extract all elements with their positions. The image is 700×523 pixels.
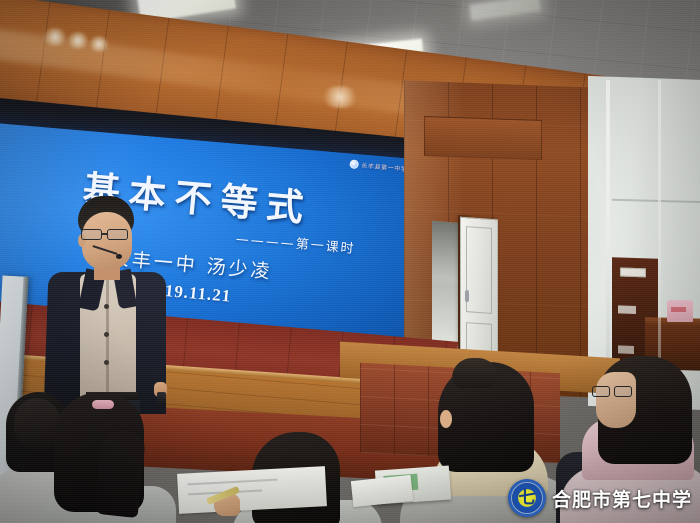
spotlight-reflection [66, 32, 90, 49]
classroom-photo: 长丰县第一中学 基本不等式 ————第一课时 长丰一中 汤少凌 2019.11.… [0, 0, 700, 523]
shirt-button [104, 304, 109, 309]
watermark-text: 合肥市第七中学 [552, 485, 692, 512]
spotlight-reflection [320, 86, 360, 108]
student-2-ponytail [94, 428, 147, 518]
headset-microphone-icon [116, 254, 122, 259]
door-handle[interactable] [465, 290, 469, 302]
pink-box-object [667, 300, 693, 322]
worksheet [177, 466, 327, 514]
school-logo-icon [349, 159, 359, 169]
student-4-ear [440, 410, 452, 428]
shirt-button [104, 360, 109, 365]
watermark: 七 合肥市第七中学 [508, 479, 692, 517]
shirt-button [104, 332, 109, 337]
glasses-bridge [102, 233, 107, 235]
teacher-face [82, 212, 132, 270]
glasses-lens-right [614, 386, 632, 397]
glasses-lens-right [107, 229, 128, 240]
emblem-glyph: 七 [518, 490, 535, 507]
slide-logo-text: 长丰县第一中学 [361, 160, 408, 173]
spotlight-reflection [42, 28, 68, 46]
door-header-panel [424, 116, 542, 160]
school-emblem-icon: 七 [508, 479, 546, 517]
student-4-hair-bun [452, 358, 498, 388]
cabinet-sign [620, 267, 646, 277]
eyeglasses-icon [592, 386, 634, 397]
hair-tie [92, 400, 114, 409]
spotlight-reflection [88, 36, 110, 52]
shirt-placket [106, 278, 109, 396]
door-panel-upper [466, 226, 492, 314]
glasses-lens-left [592, 386, 610, 397]
eyeglasses-icon [81, 229, 133, 240]
presenter-remote[interactable] [157, 392, 166, 405]
cabinet-sign [618, 305, 636, 314]
cabinet-sign [618, 345, 634, 354]
student-5-face [596, 372, 636, 428]
paper-line [188, 479, 278, 486]
pink-box-label [671, 307, 686, 312]
glasses-lens-left [81, 229, 102, 240]
slide-logo: 长丰县第一中学 [349, 159, 408, 173]
